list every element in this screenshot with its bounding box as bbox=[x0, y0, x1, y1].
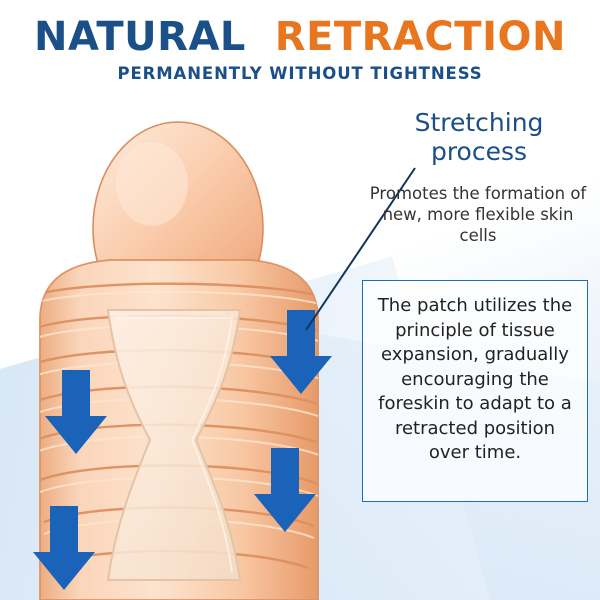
callout-title: Stretching process bbox=[370, 108, 588, 166]
page-title-word-1: NATURAL bbox=[34, 14, 246, 60]
page-title: NATURAL RETRACTION bbox=[0, 14, 600, 60]
anatomy-illustration bbox=[0, 88, 370, 600]
page-title-word-2: RETRACTION bbox=[275, 14, 566, 60]
page-subtitle: PERMANENTLY WITHOUT TIGHTNESS bbox=[0, 64, 600, 83]
infographic-page: NATURAL RETRACTION PERMANENTLY WITHOUT T… bbox=[0, 0, 600, 600]
info-box-text: The patch utilizes the principle of tiss… bbox=[374, 294, 576, 466]
callout-description: Promotes the formation of new, more flex… bbox=[362, 183, 594, 246]
